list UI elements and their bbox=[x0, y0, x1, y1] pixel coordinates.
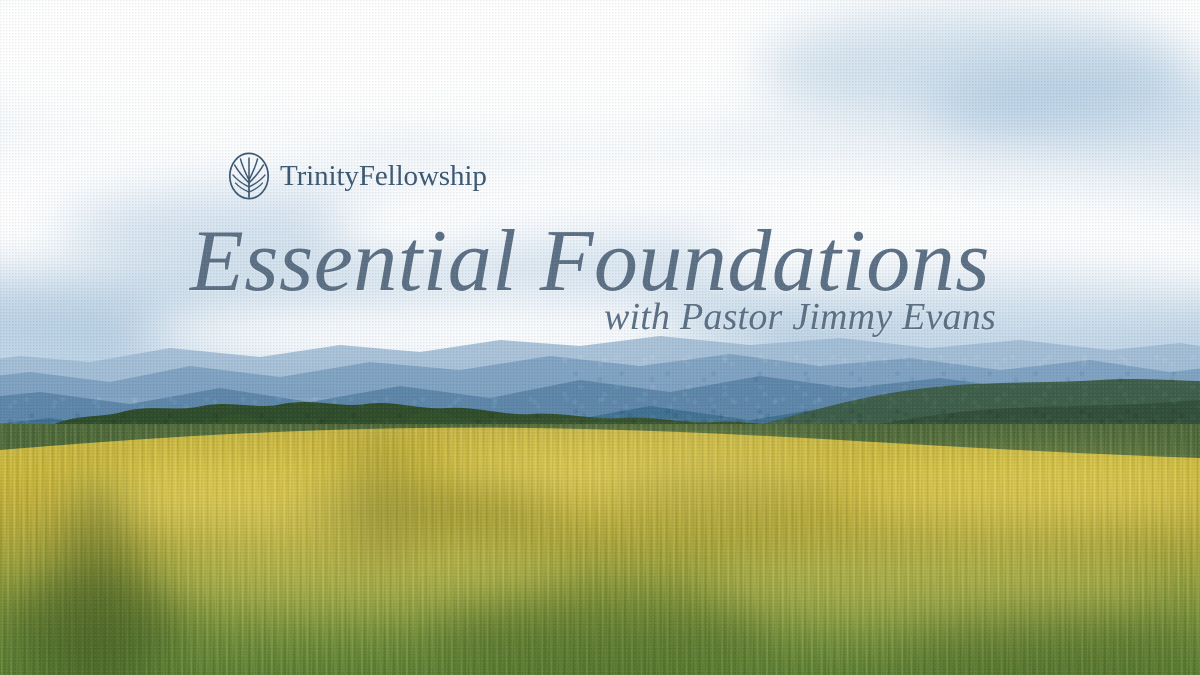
meadow-path bbox=[352, 434, 408, 564]
treeline-layer-front bbox=[0, 414, 1200, 510]
grass-blade-texture bbox=[0, 424, 1200, 675]
meadow-light-patch bbox=[150, 534, 570, 614]
meadow-path bbox=[62, 480, 132, 675]
meadow-light-patch bbox=[700, 544, 1160, 630]
brand-lockup[interactable]: TrinityFellowship bbox=[228, 152, 487, 200]
meadow-light-patch bbox=[60, 464, 420, 534]
grass-blade-texture bbox=[0, 424, 1200, 675]
tree-in-oval-icon bbox=[228, 152, 270, 200]
meadow-dark-patch bbox=[900, 610, 1200, 675]
sky-backdrop bbox=[0, 0, 1200, 420]
meadow-light-patch bbox=[430, 444, 850, 504]
meadow-dark-patch bbox=[610, 470, 840, 514]
brand-name: TrinityFellowship bbox=[280, 162, 487, 191]
meadow-dark-patch bbox=[300, 482, 560, 532]
meadow-light-patch bbox=[840, 458, 1200, 524]
forest-texture bbox=[0, 414, 1200, 510]
meadow-gradient bbox=[0, 424, 1200, 675]
meadow-field bbox=[0, 424, 1200, 675]
page-title: Essential Foundations bbox=[190, 218, 990, 306]
meadow-dark-patch bbox=[0, 574, 180, 675]
page-subtitle: with Pastor Jimmy Evans bbox=[604, 298, 996, 336]
meadow-dark-patch bbox=[430, 594, 770, 675]
title-card-stage: TrinityFellowship Essential Foundations … bbox=[0, 0, 1200, 675]
